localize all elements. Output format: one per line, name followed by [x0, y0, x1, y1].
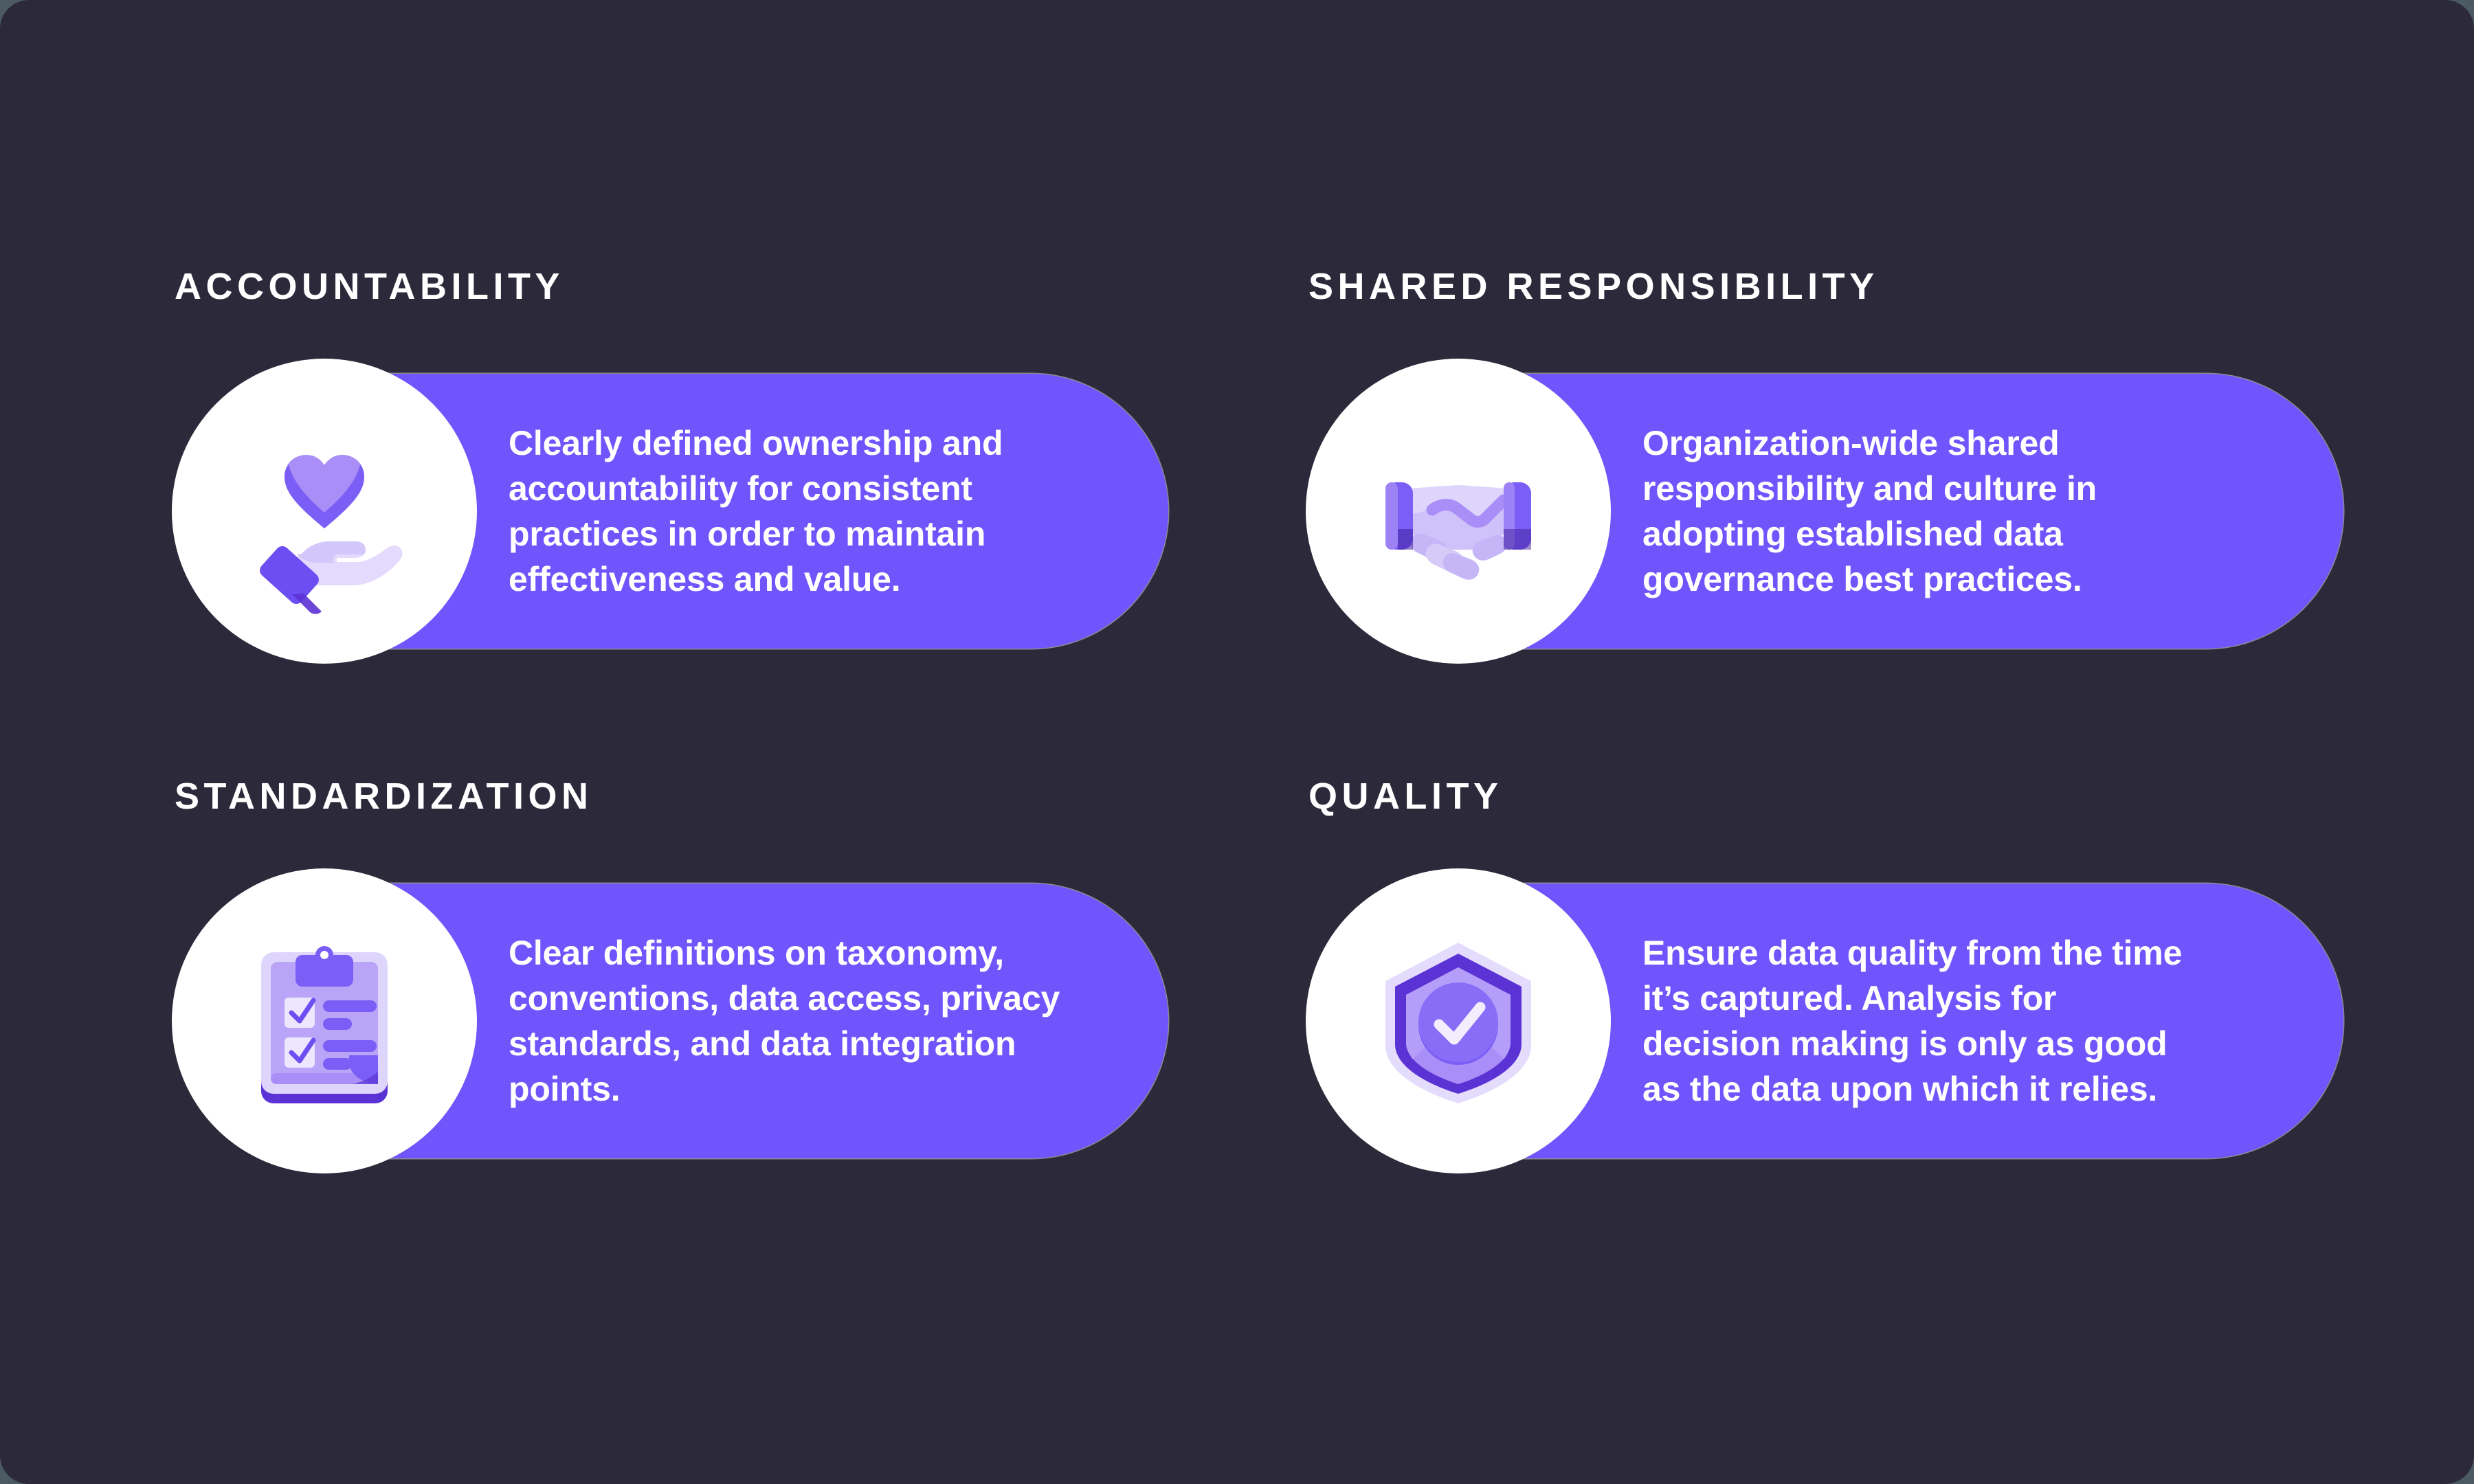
pill-accountability: Clearly defined ownership and accountabi… [172, 359, 1306, 633]
icon-circle-shared-responsibility [1306, 359, 1611, 664]
card-body-standardization: Clear definitions on taxonomy, conventio… [509, 884, 1065, 1158]
card-quality: QUALITY Ensure data quality from the tim… [1306, 778, 2302, 1143]
card-body-accountability: Clearly defined ownership and accountabi… [509, 374, 1058, 649]
card-standardization: STANDARDIZATION Clear definitions on tax… [172, 778, 1306, 1143]
principles-grid: ACCOUNTABILITY Clearly defined ownership… [172, 268, 2302, 1143]
clipboard-checklist-icon [221, 918, 427, 1124]
pill-standardization: Clear definitions on taxonomy, conventio… [172, 868, 1306, 1143]
card-body-shared-responsibility: Organization-wide shared responsibility … [1642, 374, 2185, 649]
infographic-canvas: ACCOUNTABILITY Clearly defined ownership… [0, 0, 2474, 1484]
pill-quality: Ensure data quality from the time it’s c… [1306, 868, 2302, 1143]
handshake-icon [1355, 408, 1561, 614]
card-title-shared-responsibility: SHARED RESPONSIBILITY [1308, 268, 2302, 305]
card-accountability: ACCOUNTABILITY Clearly defined ownership… [172, 268, 1306, 633]
card-shared-responsibility: SHARED RESPONSIBILITY Organization-wide … [1306, 268, 2302, 633]
icon-circle-accountability [172, 359, 477, 664]
card-title-quality: QUALITY [1308, 778, 2302, 815]
card-title-standardization: STANDARDIZATION [175, 778, 1306, 815]
heart-in-hand-icon [221, 408, 427, 614]
shield-check-icon [1355, 918, 1561, 1124]
pill-shared-responsibility: Organization-wide shared responsibility … [1306, 359, 2302, 633]
icon-circle-quality [1306, 868, 1611, 1173]
card-title-accountability: ACCOUNTABILITY [175, 268, 1306, 305]
icon-circle-standardization [172, 868, 477, 1173]
card-body-quality: Ensure data quality from the time it’s c… [1642, 884, 2192, 1158]
